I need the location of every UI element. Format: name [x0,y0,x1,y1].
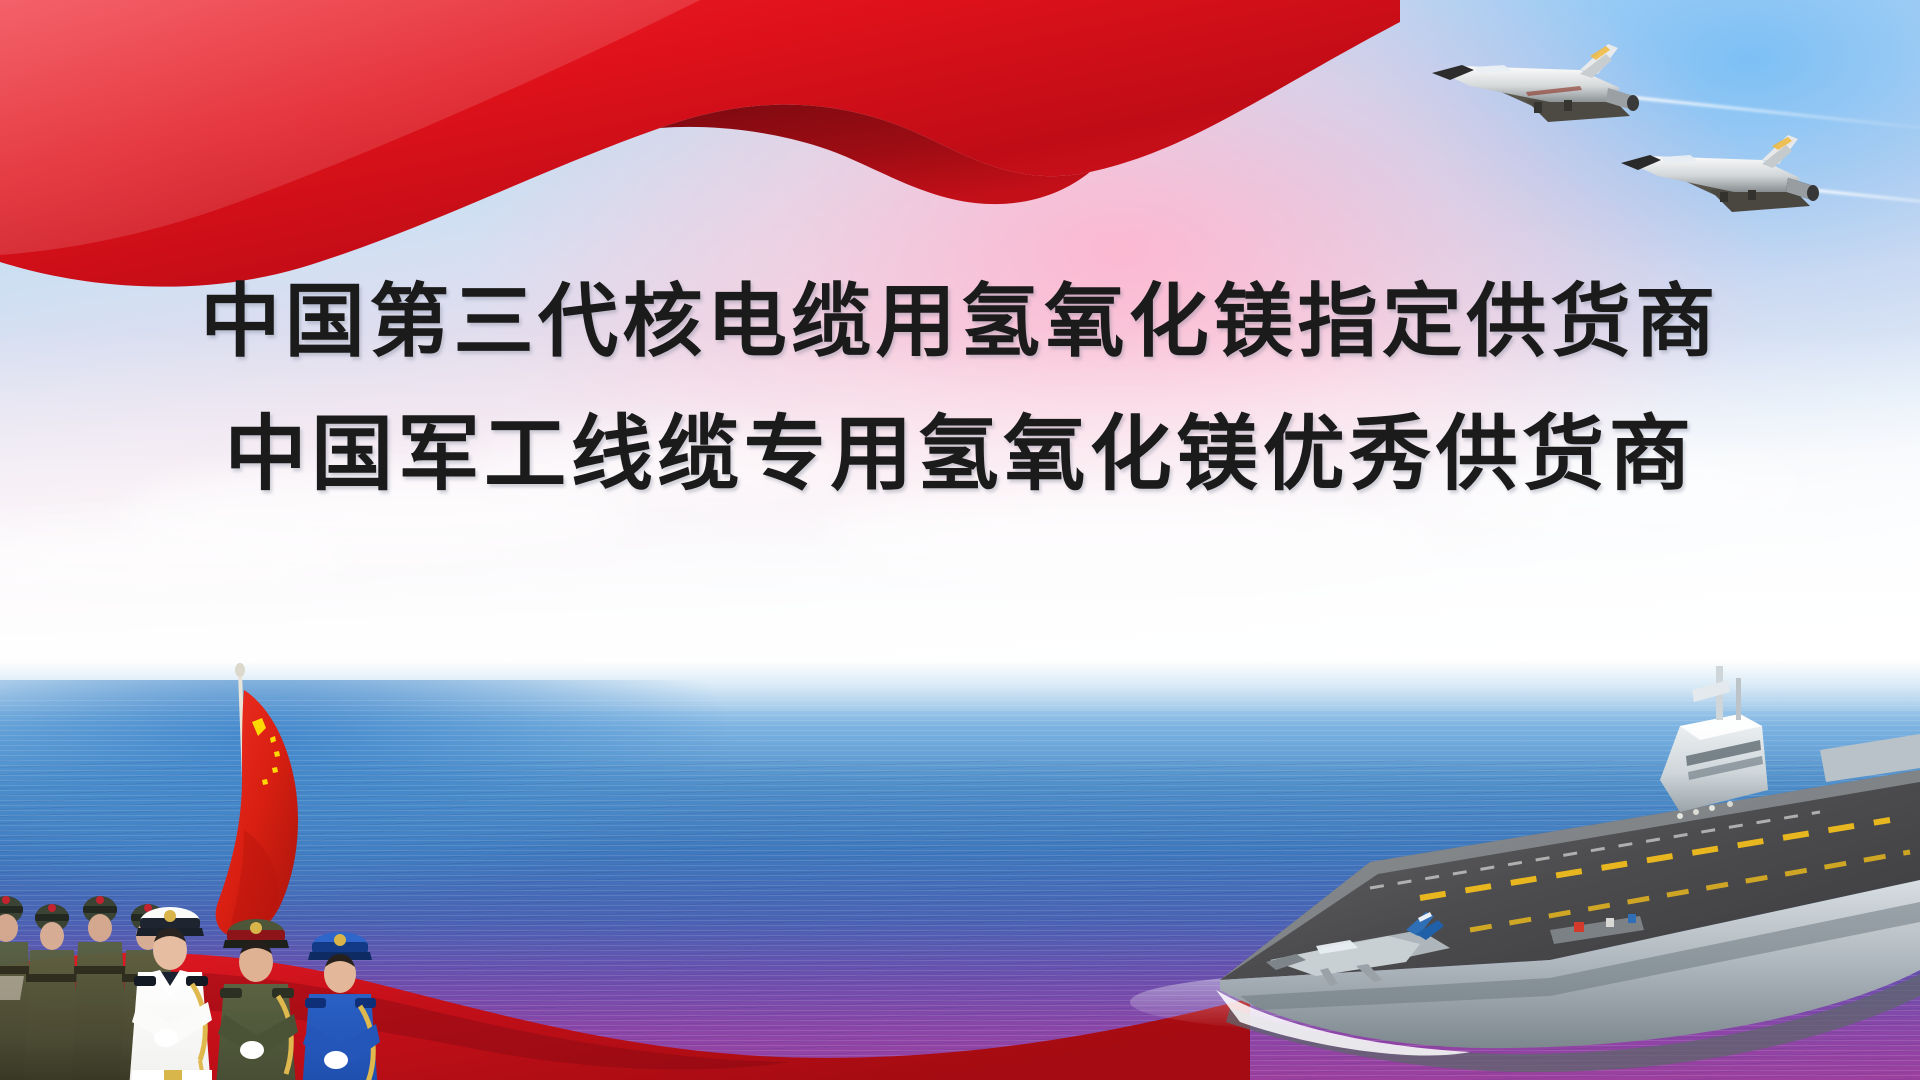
banner-root: 中国第三代核电缆用氢氧化镁指定供货商 中国军工线缆专用氢氧化镁优秀供货商 [0,0,1920,1080]
page-title-line-2: 中国军工线缆专用氢氧化镁优秀供货商 [0,414,1920,496]
title-block: 中国第三代核电缆用氢氧化镁指定供货商 中国军工线缆专用氢氧化镁优秀供货商 [0,282,1920,496]
page-title-line-1: 中国第三代核电缆用氢氧化镁指定供货商 [0,282,1920,362]
honor-guard-formation [0,630,500,1080]
fighter-jet-lower [1620,132,1820,244]
fighter-jet-upper [1430,40,1640,160]
red-flag-wave-top [0,0,1400,290]
aircraft-carrier [1120,630,1920,1080]
cloud [820,490,1440,585]
